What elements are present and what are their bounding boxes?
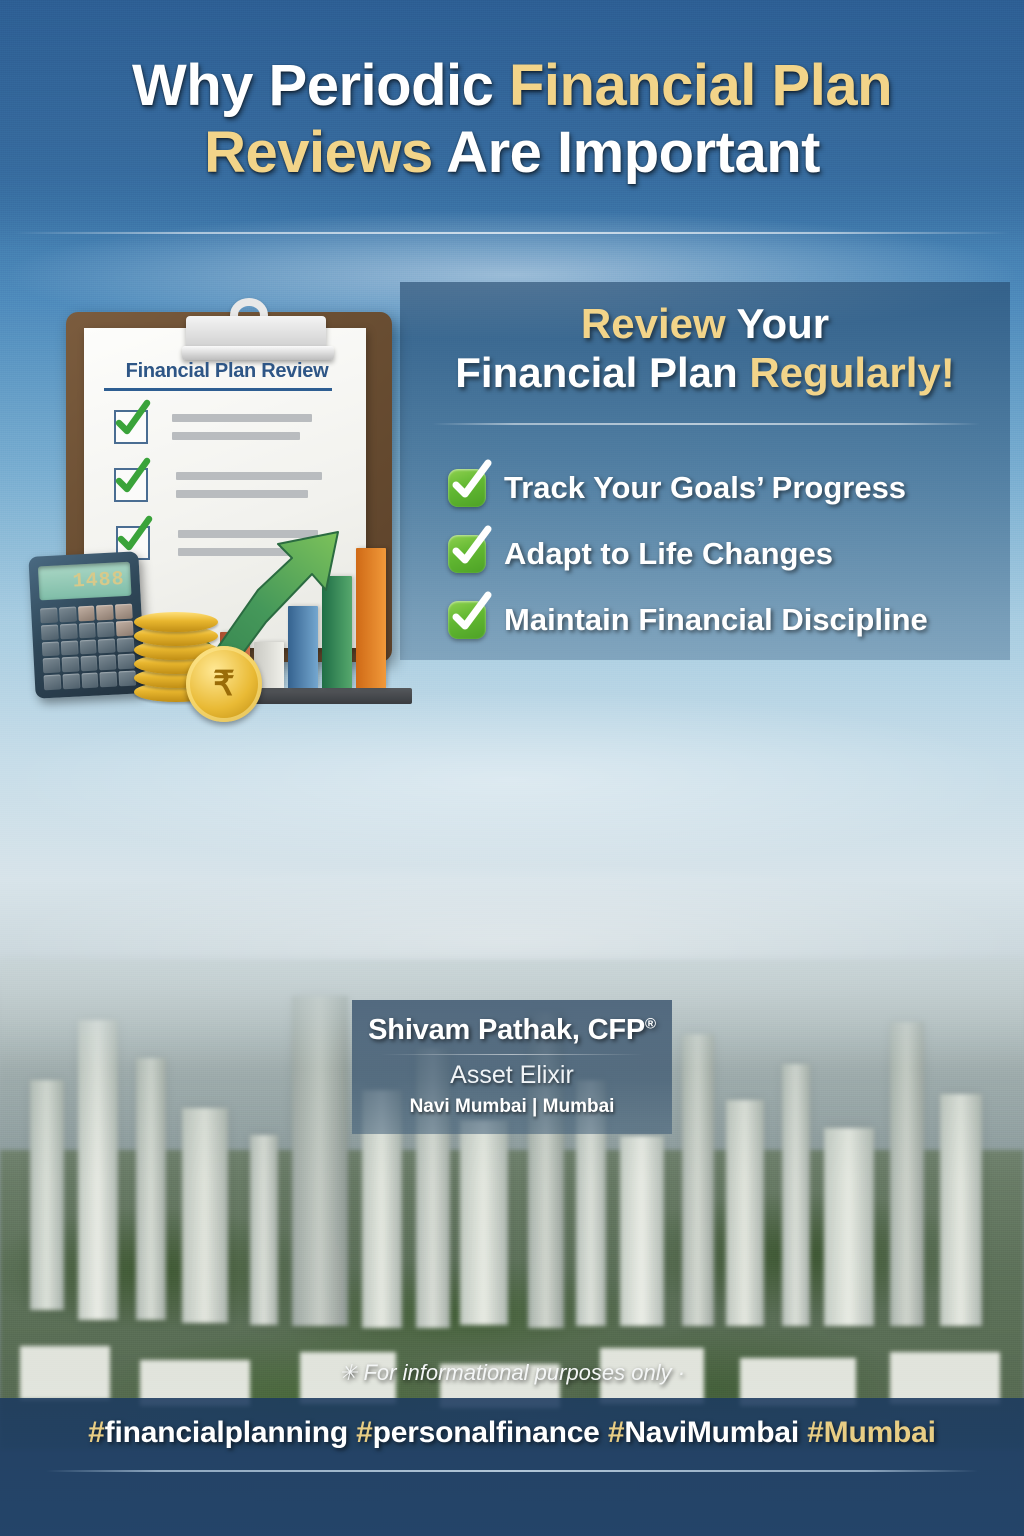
rupee-coin-icon: ₹ — [186, 646, 262, 722]
footer-divider — [46, 1470, 978, 1472]
calculator-key — [99, 655, 117, 671]
header-divider — [14, 232, 1010, 234]
green-check-icon — [448, 601, 486, 639]
calculator-key — [98, 638, 116, 654]
calculator-key — [118, 654, 136, 670]
calculator-key — [61, 640, 79, 656]
list-item: Track Your Goals’ Progress — [448, 455, 994, 521]
green-check-icon — [448, 535, 486, 573]
hashtag-list: #financialplanning #personalfinance #Nav… — [0, 1416, 1024, 1450]
subtitle-gold-1: Review — [581, 300, 726, 347]
calculator-key — [81, 673, 99, 689]
calculator-key — [44, 675, 62, 691]
calculator-key — [60, 623, 78, 639]
clipboard-clip-bar — [182, 346, 334, 360]
hashtag-word: personalfinance — [373, 1416, 600, 1449]
calculator-key — [80, 656, 98, 672]
calculator-key — [100, 672, 118, 688]
coin-stack-illustration: ₹ — [134, 610, 244, 702]
calculator-key — [117, 637, 135, 653]
list-item: Maintain Financial Discipline — [448, 587, 994, 653]
hashtag-item: #NaviMumbai — [608, 1416, 799, 1449]
title-highlight-2: Reviews — [204, 120, 433, 185]
author-firm: Asset Elixir — [362, 1061, 662, 1090]
calculator-key — [116, 620, 134, 636]
author-card: Shivam Pathak, CFP® Asset Elixir Navi Mu… — [352, 1000, 672, 1134]
calculator-key — [97, 621, 115, 637]
subtitle-white-1: Your — [726, 300, 829, 347]
coin-disc — [134, 612, 218, 632]
title-segment-1: Why Periodic — [132, 53, 509, 118]
calculator-illustration: 1488 — [28, 551, 145, 699]
green-tick-icon — [110, 458, 152, 500]
subtitle-gold-2: Regularly! — [749, 349, 954, 396]
hashtag-item: #financialplanning — [88, 1416, 348, 1449]
paper-text-line — [172, 414, 312, 422]
calculator-key — [41, 624, 59, 640]
author-locations: Navi Mumbai | Mumbai — [362, 1096, 662, 1118]
hero-subtitle: Review Your Financial Plan Regularly! — [400, 300, 1010, 397]
poster-header: Why Periodic Financial PlanReviews Are I… — [0, 52, 1024, 187]
title-highlight-1: Financial Plan — [509, 53, 892, 118]
financial-review-illustration: Financial Plan Review — [24, 292, 424, 722]
subtitle-divider — [432, 423, 980, 425]
subtitle-line-1: Review Your — [416, 300, 994, 349]
page-title: Why Periodic Financial PlanReviews Are I… — [48, 52, 976, 187]
subtitle-line-2: Financial Plan Regularly! — [416, 349, 994, 398]
hashtag-item: #Mumbai — [807, 1416, 936, 1449]
hash-symbol: # — [356, 1416, 373, 1449]
author-name: Shivam Pathak, CFP® — [362, 1014, 662, 1047]
calculator-key — [40, 608, 58, 624]
title-segment-2: Are Important — [433, 120, 820, 185]
list-item-label: Maintain Financial Discipline — [504, 602, 928, 638]
green-check-icon — [448, 469, 486, 507]
calculator-key — [96, 605, 114, 621]
calculator-display: 1488 — [38, 562, 132, 601]
calculator-key — [42, 641, 60, 657]
hash-symbol: # — [88, 1416, 105, 1449]
chart-bar — [356, 548, 386, 688]
clipboard-title-rule — [104, 388, 332, 391]
poster-canvas: Why Periodic Financial PlanReviews Are I… — [0, 0, 1024, 1536]
author-name-text: Shivam Pathak, CFP — [368, 1014, 645, 1046]
list-item-label: Track Your Goals’ Progress — [504, 470, 906, 506]
hash-symbol: # — [807, 1416, 824, 1449]
calculator-key — [43, 658, 61, 674]
paper-text-line — [176, 490, 308, 498]
hash-symbol: # — [608, 1416, 625, 1449]
disclaimer-text: ✳ For informational purposes only · — [0, 1360, 1024, 1386]
hashtag-item: #personalfinance — [356, 1416, 600, 1449]
calculator-keypad — [40, 604, 136, 691]
paper-text-line — [176, 472, 322, 480]
green-tick-icon — [110, 400, 152, 442]
calculator-key — [78, 606, 96, 622]
calculator-key — [115, 604, 133, 620]
calculator-key — [79, 639, 97, 655]
calculator-key — [78, 622, 96, 638]
list-item-label: Adapt to Life Changes — [504, 536, 833, 572]
hashtag-word: NaviMumbai — [624, 1416, 799, 1449]
calculator-key — [61, 657, 79, 673]
calculator-key — [59, 607, 77, 623]
hashtag-bar: #financialplanning #personalfinance #Nav… — [0, 1398, 1024, 1536]
calculator-key — [62, 674, 80, 690]
author-divider — [380, 1054, 644, 1055]
hashtag-word: Mumbai — [824, 1416, 936, 1449]
list-item: Adapt to Life Changes — [448, 521, 994, 587]
registered-mark: ® — [645, 1015, 656, 1032]
benefits-list: Track Your Goals’ Progress Adapt to Life… — [448, 455, 994, 653]
clipboard-title: Financial Plan Review — [102, 360, 352, 383]
paper-text-line — [172, 432, 300, 440]
hashtag-word: financialplanning — [105, 1416, 348, 1449]
subtitle-white-2: Financial Plan — [455, 349, 749, 396]
